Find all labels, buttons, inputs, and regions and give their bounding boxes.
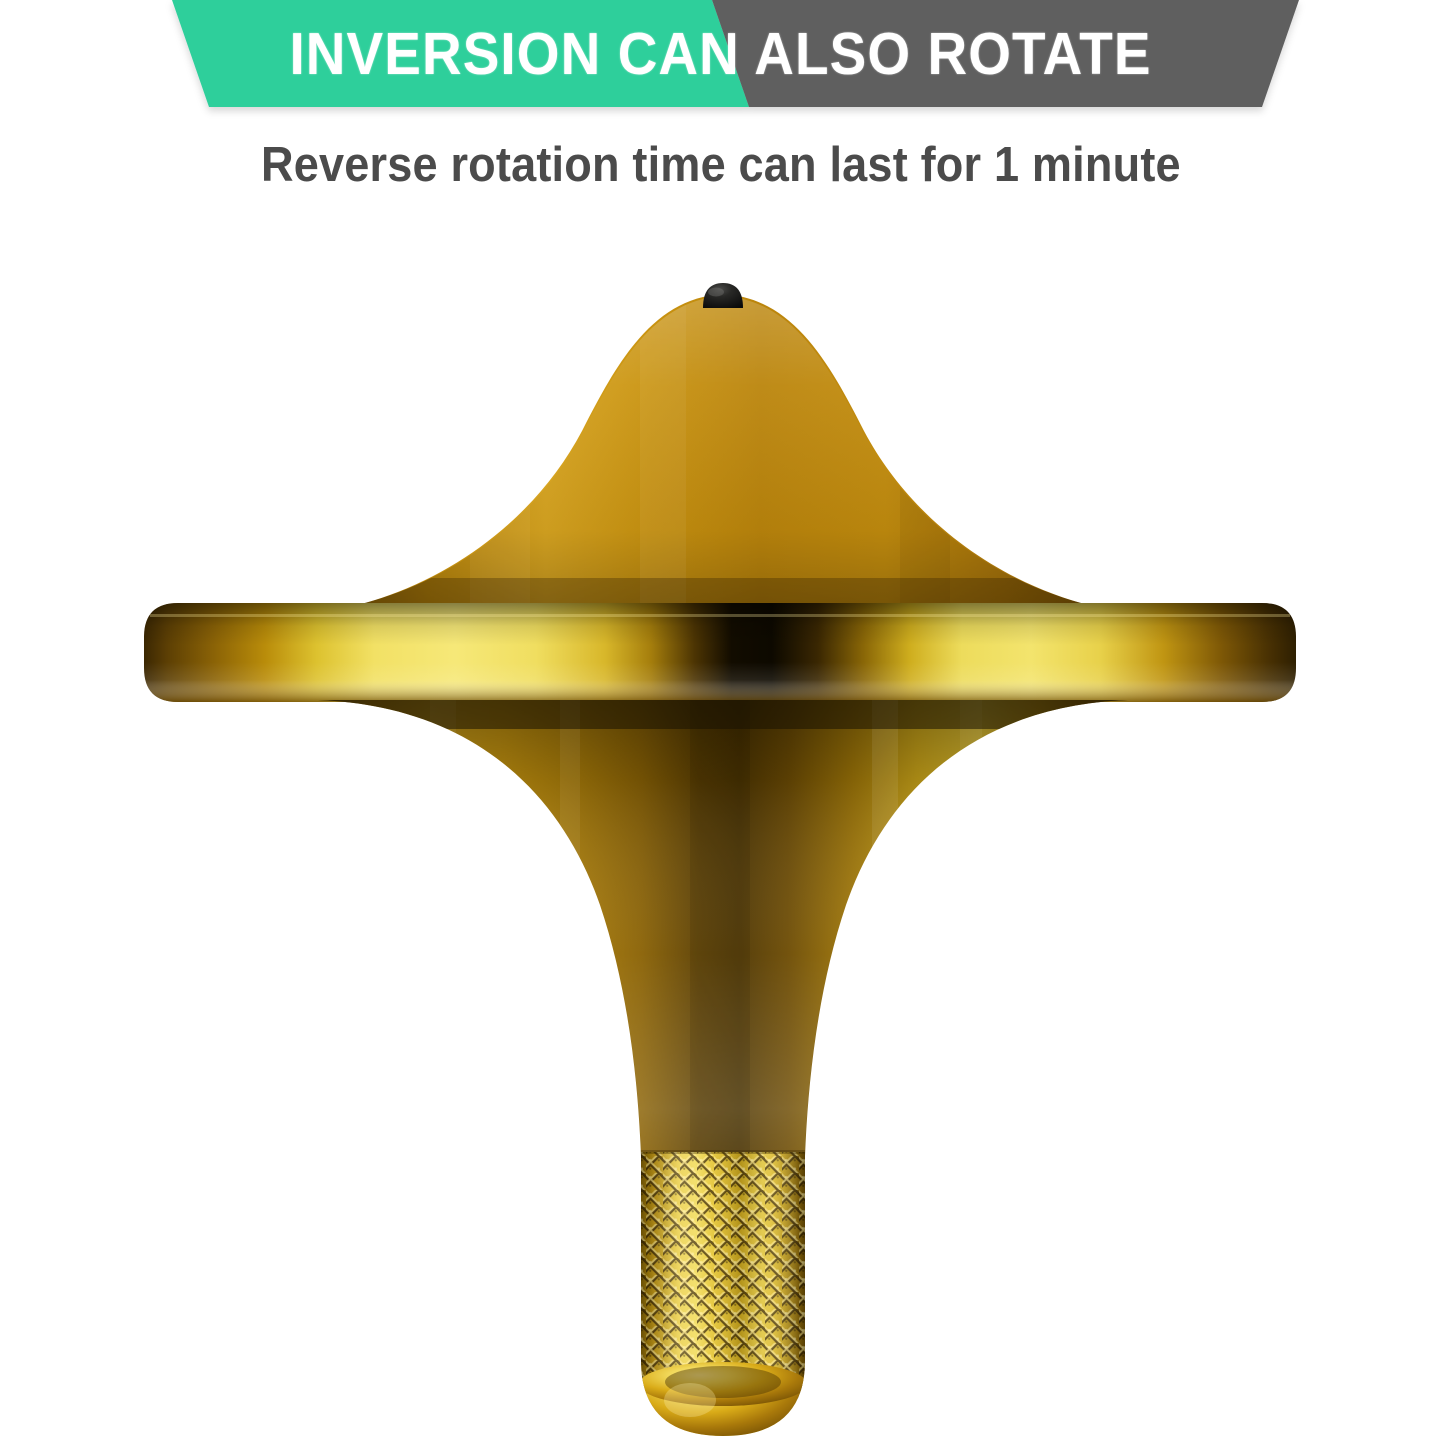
product-marketing-image: INVERSION CAN ALSO ROTATE Reverse rotati… [0, 0, 1441, 1441]
knurled-grip [630, 1145, 820, 1441]
gold-spinning-top-illustration [0, 0, 1441, 1441]
product-image [0, 0, 1441, 1441]
black-tip-cap [703, 283, 743, 308]
flared-stem [300, 695, 1150, 1165]
gold-flange-disc [144, 603, 1296, 702]
gold-dome [340, 290, 1110, 610]
rounded-bottom-tip [664, 1383, 716, 1417]
